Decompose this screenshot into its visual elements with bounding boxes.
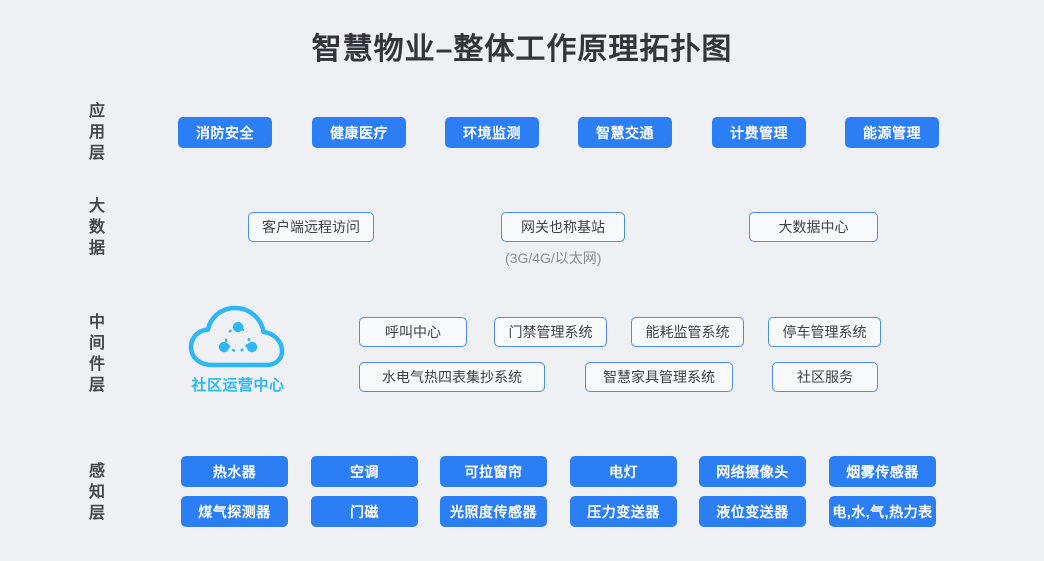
- middleware-node-four-meter-reading-system[interactable]: 水电气热四表集抄系统: [359, 362, 545, 392]
- page-title: 智慧物业–整体工作原理拓扑图: [0, 24, 1044, 68]
- middleware-node-community-service[interactable]: 社区服务: [772, 362, 878, 392]
- layer-label-char: 大: [84, 196, 110, 217]
- layer-label-char: 层: [84, 143, 110, 164]
- app-node-environment-monitoring[interactable]: 环境监测: [445, 117, 539, 148]
- sensor-node-water-heater[interactable]: 热水器: [181, 456, 288, 487]
- layer-label-middleware: 中 间 件 层: [84, 312, 110, 396]
- cloud-icon: [182, 300, 294, 372]
- layer-label-char: 应: [84, 101, 110, 122]
- sensor-node-level-transmitter[interactable]: 液位变送器: [699, 496, 806, 527]
- layer-label-bigdata: 大 数 据: [84, 196, 110, 259]
- layer-label-char: 感: [84, 461, 110, 482]
- layer-label-char: 用: [84, 122, 110, 143]
- sensor-node-curtain[interactable]: 可拉窗帘: [440, 456, 547, 487]
- middleware-node-parking-management-system[interactable]: 停车管理系统: [768, 317, 881, 347]
- community-operation-center[interactable]: 社区运营中心: [182, 300, 294, 395]
- bigdata-node-gateway-sublabel: (3G/4G/以太网): [505, 248, 601, 268]
- layer-label-char: 中: [84, 312, 110, 333]
- layer-label-char: 层: [84, 503, 110, 524]
- app-node-smart-transport[interactable]: 智慧交通: [578, 117, 672, 148]
- app-node-health-medical[interactable]: 健康医疗: [312, 117, 406, 148]
- layer-label-char: 数: [84, 217, 110, 238]
- layer-label-char: 层: [84, 375, 110, 396]
- layer-label-char: 据: [84, 238, 110, 259]
- bigdata-node-big-data-center[interactable]: 大数据中心: [749, 212, 878, 242]
- layer-label-perception: 感 知 层: [84, 461, 110, 524]
- sensor-node-light[interactable]: 电灯: [570, 456, 677, 487]
- layer-label-application: 应 用 层: [84, 101, 110, 164]
- topology-diagram: 智慧物业–整体工作原理拓扑图 应 用 层 消防安全 健康医疗 环境监测 智慧交通…: [0, 0, 1044, 561]
- app-node-billing-management[interactable]: 计费管理: [712, 117, 806, 148]
- middleware-node-access-control-system[interactable]: 门禁管理系统: [494, 317, 607, 347]
- middleware-node-energy-supervision-system[interactable]: 能耗监管系统: [631, 317, 744, 347]
- sensor-node-smoke-detector[interactable]: 烟雾传感器: [829, 456, 936, 487]
- layer-label-char: 知: [84, 482, 110, 503]
- app-node-fire-safety[interactable]: 消防安全: [178, 117, 272, 148]
- layer-label-char: 间: [84, 333, 110, 354]
- layer-label-char: 件: [84, 354, 110, 375]
- sensor-node-pressure-transmitter[interactable]: 压力变送器: [570, 496, 677, 527]
- sensor-node-utility-meters[interactable]: 电,水,气,热力表: [829, 496, 936, 527]
- cloud-icon-caption: 社区运营中心: [182, 374, 294, 395]
- bigdata-node-gateway-base-station[interactable]: 网关也称基站: [501, 212, 625, 242]
- middleware-node-call-center[interactable]: 呼叫中心: [359, 317, 467, 347]
- sensor-node-network-camera[interactable]: 网络摄像头: [699, 456, 806, 487]
- sensor-node-illuminance-sensor[interactable]: 光照度传感器: [440, 496, 547, 527]
- sensor-node-door-magnet[interactable]: 门磁: [311, 496, 418, 527]
- bigdata-node-client-remote-access[interactable]: 客户端远程访问: [248, 212, 374, 242]
- app-node-energy-management[interactable]: 能源管理: [845, 117, 939, 148]
- sensor-node-air-conditioner[interactable]: 空调: [311, 456, 418, 487]
- middleware-node-smart-furniture-system[interactable]: 智慧家具管理系统: [585, 362, 733, 392]
- sensor-node-gas-detector[interactable]: 煤气探测器: [181, 496, 288, 527]
